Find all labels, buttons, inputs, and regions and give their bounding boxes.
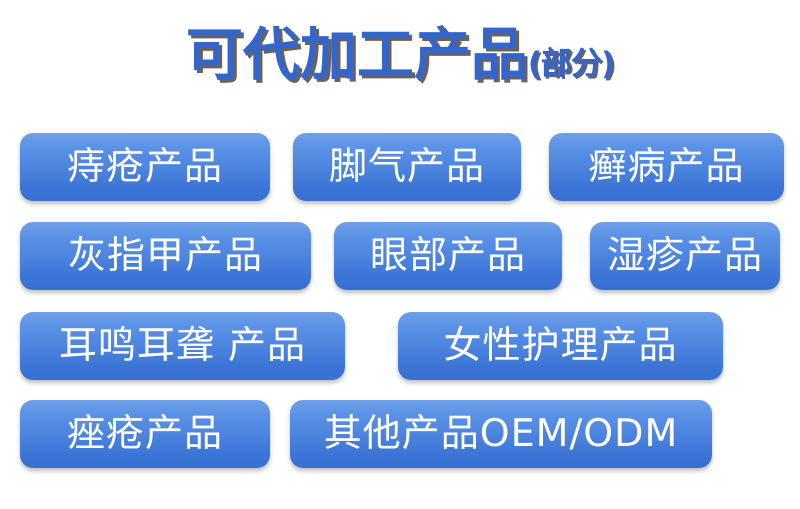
category-row-4: 痤疮产品 其他产品OEM/ODM: [20, 400, 790, 468]
category-button-womens-care[interactable]: 女性护理产品: [398, 312, 723, 380]
category-button-athletes-foot[interactable]: 脚气产品: [293, 133, 521, 201]
category-button-ringworm[interactable]: 癣病产品: [549, 133, 784, 201]
category-button-label: 湿疹产品: [605, 236, 765, 274]
category-button-label: 痤疮产品: [65, 414, 225, 452]
category-button-tinnitus-deafness[interactable]: 耳鸣耳聋 产品: [20, 312, 345, 380]
category-button-hemorrhoid[interactable]: 痔疮产品: [20, 133, 270, 201]
category-button-label: 痔疮产品: [65, 147, 225, 185]
category-button-label: 其他产品OEM/ODM: [322, 414, 680, 452]
category-button-onychomycosis[interactable]: 灰指甲产品: [20, 222, 311, 290]
product-categories-banner: 可代加工产品(部分) 痔疮产品 脚气产品 癣病产品 灰指甲产品 眼部产品 湿疹产…: [0, 0, 800, 509]
category-button-eczema[interactable]: 湿疹产品: [590, 222, 780, 290]
category-button-other-oem-odm[interactable]: 其他产品OEM/ODM: [290, 400, 712, 468]
category-button-acne[interactable]: 痤疮产品: [20, 400, 270, 468]
category-button-grid: 痔疮产品 脚气产品 癣病产品 灰指甲产品 眼部产品 湿疹产品 耳鸣耳聋 产品: [0, 0, 800, 509]
category-button-label: 癣病产品: [586, 147, 746, 185]
category-button-label: 脚气产品: [327, 147, 487, 185]
category-row-3: 耳鸣耳聋 产品 女性护理产品: [20, 312, 790, 380]
category-button-label: 灰指甲产品: [66, 236, 265, 274]
category-button-label: 耳鸣耳聋 产品: [57, 326, 308, 364]
category-button-eye-care[interactable]: 眼部产品: [334, 222, 562, 290]
category-button-label: 女性护理产品: [441, 326, 679, 364]
category-row-1: 痔疮产品 脚气产品 癣病产品: [20, 133, 790, 201]
category-button-label: 眼部产品: [368, 236, 528, 274]
category-row-2: 灰指甲产品 眼部产品 湿疹产品: [20, 222, 790, 290]
